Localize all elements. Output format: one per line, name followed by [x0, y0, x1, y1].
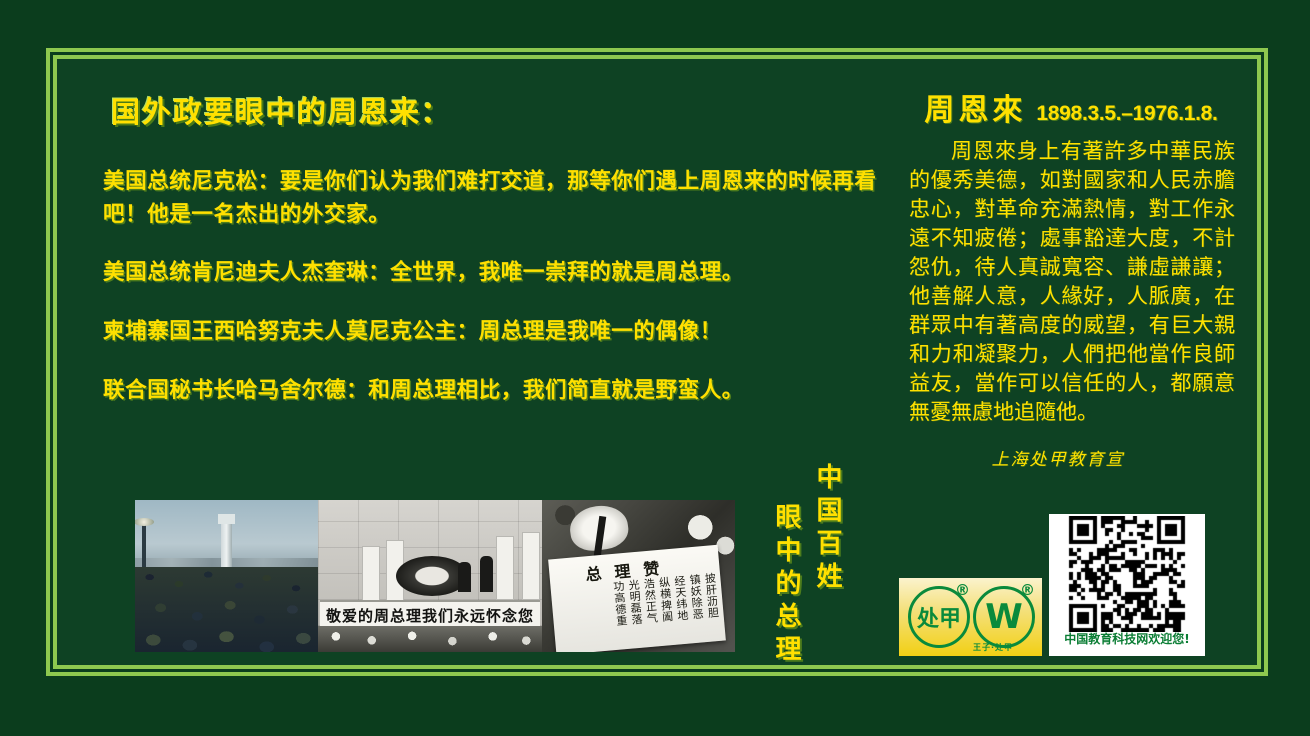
poster-inner-frame: 国外政要眼中的周恩来： 美国总统尼克松：要是你们认为我们难打交道，那等你们遇上周…: [53, 55, 1261, 669]
person-header: 周恩來 1898.3.5.–1976.1.8.: [903, 85, 1239, 129]
quote-hammarskjold: 联合国秘书长哈马舍尔德：和周总理相比，我们简直就是野蛮人。: [103, 374, 903, 407]
photo-memorial-wall: 敬爱的周总理我们永远怀念您: [318, 500, 542, 652]
qr-code-block[interactable]: 中国教育科技网欢迎您!: [1049, 514, 1205, 656]
qr-code-caption: 中国教育科技网欢迎您!: [1051, 633, 1203, 646]
logo-tagline: 王子·处甲: [973, 642, 1013, 653]
scroll-icon: [496, 536, 514, 600]
placard-column: 披肝沥胆: [703, 572, 721, 639]
biography-text: 周恩來身上有著許多中華民族的優秀美德，如對國家和人民赤膽忠心，對革命充滿熱情，對…: [909, 137, 1235, 427]
poster-body: 国外政要眼中的周恩来： 美国总统尼克松：要是你们认为我们难打交道，那等你们遇上周…: [57, 59, 1257, 665]
scroll-icon: [522, 532, 540, 600]
memorial-banner-text: 敬爱的周总理我们永远怀念您: [326, 605, 534, 626]
quote-nixon: 美国总统尼克松：要是你们认为我们难打交道，那等你们遇上周恩来的时候再看吧！他是一…: [103, 165, 903, 232]
photo-crowd: [135, 567, 318, 652]
scroll-icon: [362, 546, 380, 606]
vertical-caption-line-2: 眼中的总理: [769, 503, 806, 668]
quote-jacqueline-kennedy: 美国总统肯尼迪夫人杰奎琳：全世界，我唯一崇拜的就是周总理。: [103, 256, 903, 289]
registered-trademark-icon: ®: [955, 581, 970, 599]
quote-princess-monique: 柬埔寨国王西哈努克夫人莫尼克公主：周总理是我唯一的偶像！: [103, 315, 903, 348]
person-silhouette: [480, 556, 493, 592]
registered-trademark-icon: ®: [1020, 581, 1035, 599]
person-name: 周恩來: [924, 85, 1026, 129]
photo-wreath-calligraphy: 总理赞 披肝沥胆镇妖除恶经天纬地纵横捭阖浩然正气光明磊落功高德重: [542, 500, 735, 652]
biography-column: 周恩來 1898.3.5.–1976.1.8. 周恩來身上有著許多中華民族的優秀…: [903, 85, 1239, 470]
logo-glyph: W: [985, 597, 1023, 637]
placard-columns: 披肝沥胆镇妖除恶经天纬地纵横捭阖浩然正气光明磊落功高德重: [558, 572, 720, 651]
vertical-caption-line-1: 中国百姓: [810, 463, 847, 668]
qr-code-image[interactable]: [1051, 516, 1203, 632]
logo-glyph: 处甲: [917, 601, 961, 633]
brand-logo: 处甲 ® W ® 王子·处甲: [899, 578, 1042, 656]
vertical-caption: 中国百姓 眼中的总理: [769, 463, 847, 668]
streetlamp-icon: [142, 524, 146, 570]
person-life-dates: 1898.3.5.–1976.1.8.: [1036, 102, 1217, 126]
photo-flowers: [318, 626, 542, 652]
page-title: 国外政要眼中的周恩来：: [111, 89, 903, 131]
biography-signature: 上海处甲教育宣: [903, 445, 1213, 470]
photo-tiananmen-crowd: [135, 500, 318, 652]
poster-outer-frame: 国外政要眼中的周恩来： 美国总统尼克松：要是你们认为我们难打交道，那等你们遇上周…: [46, 48, 1268, 676]
photo-strip: 敬爱的周总理我们永远怀念您 总理赞 披肝沥胆镇妖除恶经天纬地纵横捭阖浩然正气光明…: [135, 500, 735, 652]
quotes-column: 国外政要眼中的周恩来： 美国总统尼克松：要是你们认为我们难打交道，那等你们遇上周…: [103, 89, 903, 408]
person-silhouette: [458, 562, 471, 592]
calligraphy-placard: 总理赞 披肝沥胆镇妖除恶经天纬地纵横捭阖浩然正气光明磊落功高德重: [548, 545, 726, 652]
